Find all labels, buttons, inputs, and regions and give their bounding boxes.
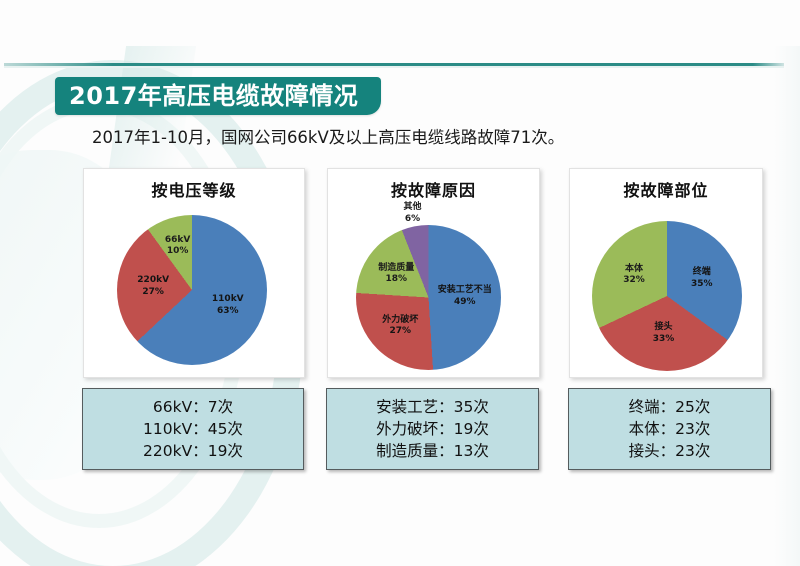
- chart-panel-fault-location: 按故障部位 终端 35% 接头 33% 本体 32%: [569, 168, 763, 378]
- chart-title-fault-location: 按故障部位: [570, 177, 762, 201]
- background-right-fade: [774, 46, 800, 566]
- title-banner: 2017年高压电缆故障情况: [55, 77, 381, 115]
- pie-label-manufacturing: 制造质量 18%: [364, 263, 428, 286]
- summary-box-fault-location: 终端：25次 本体：23次 接头：23次: [568, 388, 771, 470]
- pie-area-voltage-level: 110kV 63% 220kV 27% 66kV 10%: [84, 203, 304, 373]
- pie-area-fault-location: 终端 35% 接头 33% 本体 32%: [570, 203, 762, 373]
- chart-panel-voltage-level: 按电压等级 110kV 63% 220kV 27% 66kV 10%: [83, 168, 305, 378]
- chart-panel-fault-cause: 按故障原因 安装工艺不当 49% 外力破坏 27% 制造质量 18% 其他 6%: [327, 168, 540, 378]
- pie-label-joint: 接头 33%: [631, 322, 695, 345]
- summary-line: 制造质量：13次: [376, 440, 489, 462]
- summary-line: 终端：25次: [629, 396, 711, 418]
- summary-line: 本体：23次: [629, 418, 711, 440]
- header-rule-shadow: [4, 66, 784, 68]
- summary-line: 接头：23次: [629, 440, 711, 462]
- summary-line: 220kV：19次: [143, 440, 243, 462]
- pie-label-external-force: 外力破坏 27%: [368, 315, 432, 338]
- pie-area-fault-cause: 安装工艺不当 49% 外力破坏 27% 制造质量 18% 其他 6%: [328, 203, 539, 373]
- summary-line: 66kV：7次: [153, 396, 233, 418]
- header-rule: [4, 63, 784, 66]
- pie-label-66kv: 66kV 10%: [146, 235, 210, 258]
- summary-box-voltage-level: 66kV：7次 110kV：45次 220kV：19次: [82, 388, 304, 470]
- subtitle-text: 2017年1-10月，国网公司66kV及以上高压电缆线路故障71次。: [92, 124, 564, 148]
- slide-canvas: 2017年高压电缆故障情况 2017年1-10月，国网公司66kV及以上高压电缆…: [0, 0, 800, 566]
- summary-line: 安装工艺：35次: [376, 396, 489, 418]
- summary-line: 110kV：45次: [143, 418, 243, 440]
- chart-title-fault-cause: 按故障原因: [328, 177, 539, 201]
- chart-title-voltage-level: 按电压等级: [84, 177, 304, 201]
- pie-label-body: 本体 32%: [602, 264, 666, 287]
- pie-label-terminal: 终端 35%: [670, 267, 734, 290]
- summary-box-fault-cause: 安装工艺：35次 外力破坏：19次 制造质量：13次: [326, 388, 539, 470]
- pie-chart-fault-location: [592, 221, 742, 371]
- pie-label-220kv: 220kV 27%: [121, 275, 185, 298]
- page-title: 2017年高压电缆故障情况: [69, 84, 358, 108]
- pie-label-110kv: 110kV 63%: [196, 294, 260, 317]
- pie-label-other: 其他 6%: [380, 202, 444, 225]
- pie-label-installation: 安装工艺不当 49%: [433, 285, 497, 308]
- summary-line: 外力破坏：19次: [376, 418, 489, 440]
